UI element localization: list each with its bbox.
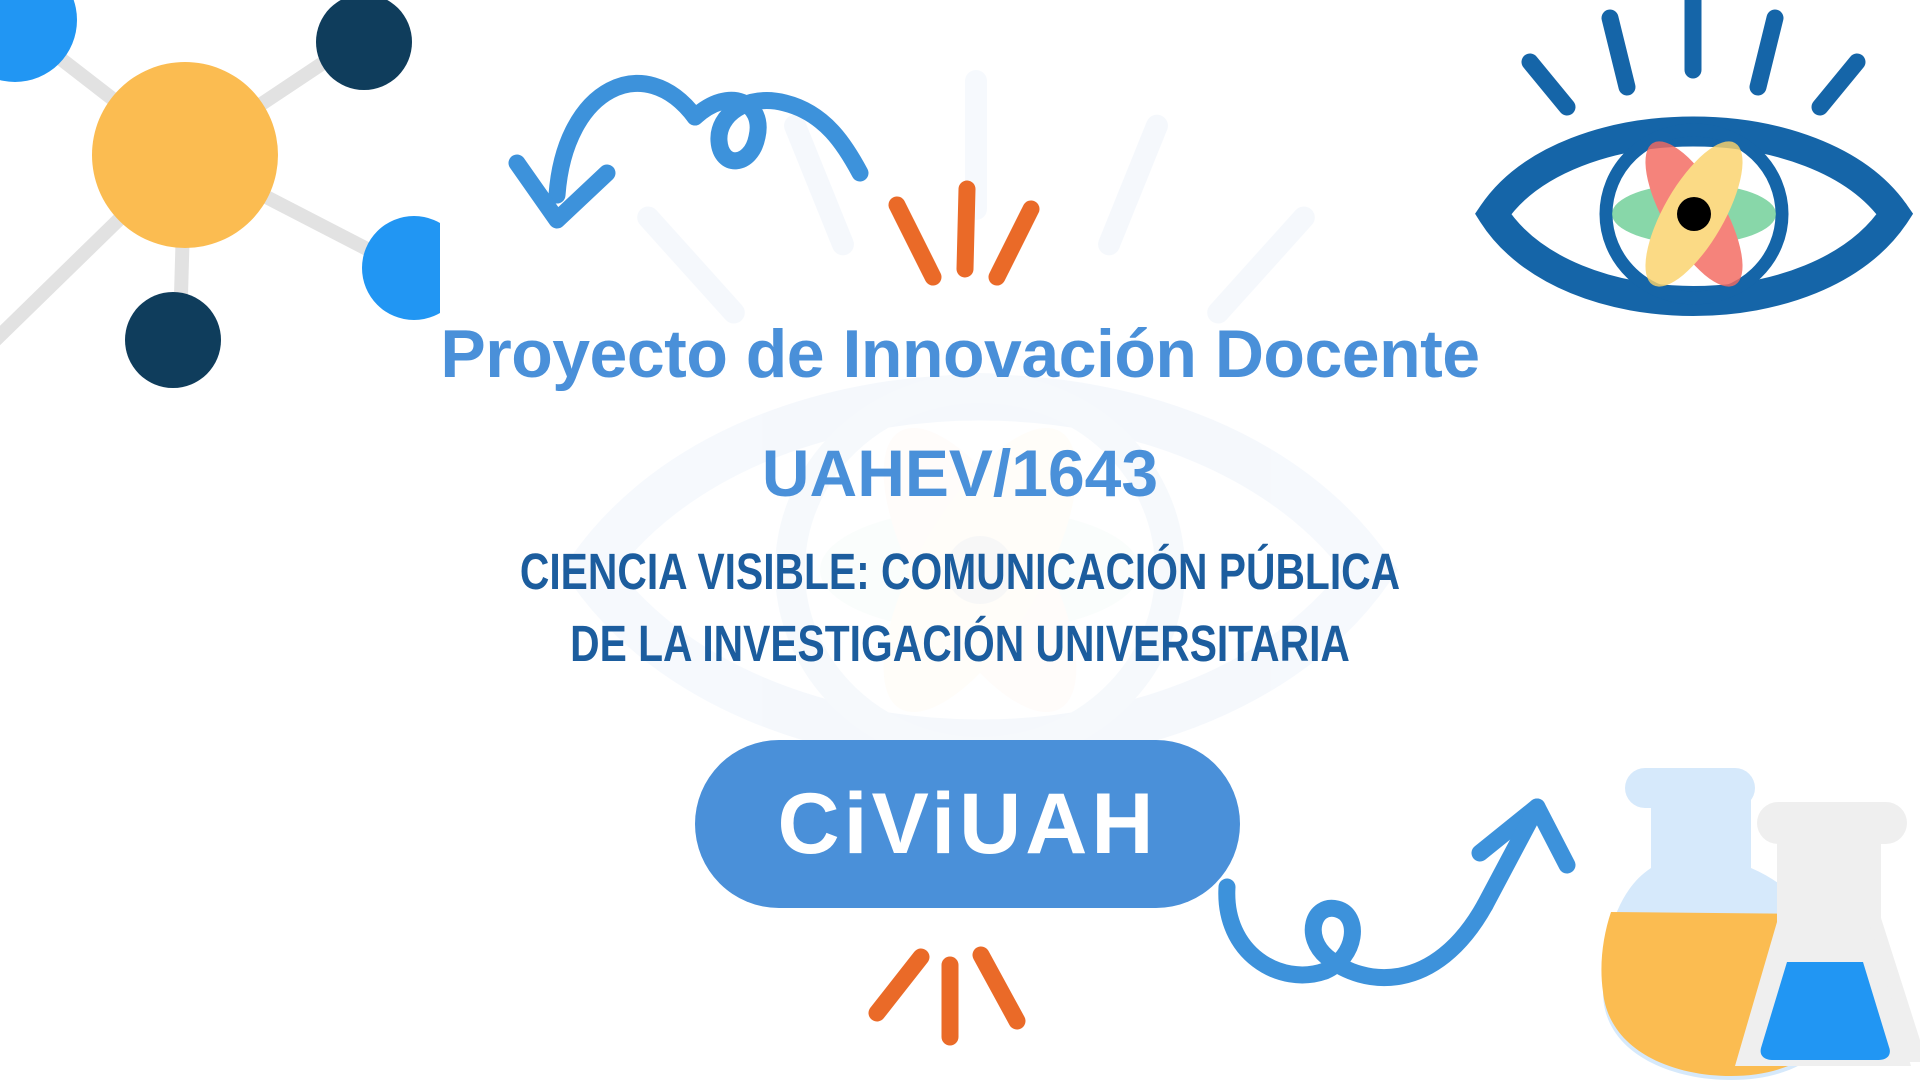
poster-canvas: Proyecto de Innovación Docente UAHEV/164… (0, 0, 1920, 1080)
curved-loop-arrow-up-icon (1185, 755, 1585, 1005)
subtitle-line-1: CIENCIA VISIBLE: COMUNICACIÓN PÚBLICA (192, 546, 1728, 597)
laboratory-flasks-icon (1555, 740, 1920, 1080)
orange-sparkle-icon (875, 175, 1055, 295)
curved-loop-arrow-down-icon (495, 45, 935, 295)
eye-atom-logo-icon (1475, 0, 1920, 362)
subtitle-line-2: DE LA INVESTIGACIÓN UNIVERSITARIA (192, 618, 1728, 669)
civiuah-badge[interactable]: CiViUAH (695, 740, 1240, 908)
civiuah-badge-label: CiViUAH (777, 781, 1157, 867)
page-title: Proyecto de Innovación Docente (0, 320, 1920, 388)
project-code: UAHEV/1643 (0, 440, 1920, 506)
orange-sparkle-icon (855, 945, 1045, 1075)
